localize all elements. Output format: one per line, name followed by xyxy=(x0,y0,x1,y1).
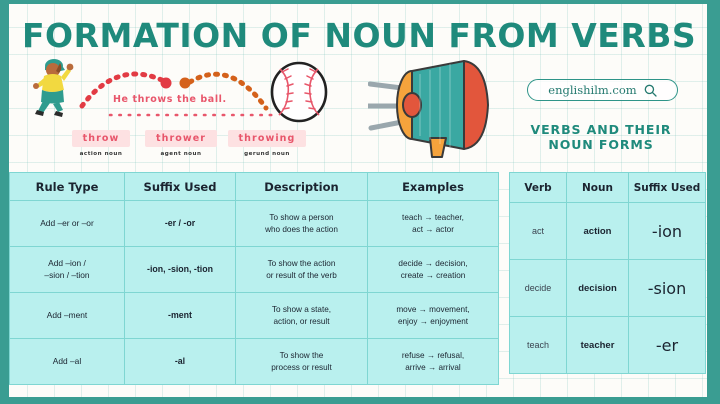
cell-description-2-line2: or result of the verb xyxy=(266,271,337,280)
table-row: teach teacher -er xyxy=(510,317,706,374)
table-row: act action -ion xyxy=(510,203,706,260)
subheading: VERBS AND THEIR NOUN FORMS xyxy=(506,122,696,152)
column-header-noun: Noun xyxy=(567,173,629,203)
cell-description-1-line1: To show a person xyxy=(269,213,333,222)
cell-description-3-line1: To show a state, xyxy=(272,305,331,314)
word-chip-thrower: thrower xyxy=(145,130,217,147)
cell-description-3-line2: action, or result xyxy=(274,317,330,326)
cell-rule-type-4: Add –al xyxy=(10,339,125,385)
cell-description-4: To show the process or result xyxy=(236,339,368,385)
example-sentence: He throws the ball. xyxy=(113,94,227,105)
subheading-line-1: VERBS AND THEIR xyxy=(506,122,696,137)
cell-suffix-3: -er xyxy=(629,317,706,374)
table-row: Add –ion / –sion / –tion -ion, -sion, -t… xyxy=(10,247,499,293)
column-header-suffix-used: Suffix Used xyxy=(629,173,706,203)
infographic-poster: FORMATION OF NOUN FROM VERBS He throws t… xyxy=(0,0,720,404)
cell-examples-4-line1: refuse → refusal, xyxy=(402,351,464,360)
cell-suffix-1: -er / -or xyxy=(125,201,236,247)
cell-description-3: To show a state, action, or result xyxy=(236,293,368,339)
dotted-underline-icon xyxy=(108,113,274,117)
search-icon[interactable] xyxy=(644,84,657,97)
rules-table: Rule Type Suffix Used Description Exampl… xyxy=(9,172,499,385)
examples-table: Verb Noun Suffix Used act action -ion de… xyxy=(509,172,706,374)
frame-band-right xyxy=(707,0,720,404)
cell-rule-type-3: Add –ment xyxy=(10,293,125,339)
subheading-line-2: NOUN FORMS xyxy=(506,137,696,152)
table-header-row: Verb Noun Suffix Used xyxy=(510,173,706,203)
cell-suffix-2: -sion xyxy=(629,260,706,317)
column-header-suffix-used: Suffix Used xyxy=(125,173,236,201)
cell-description-4-line2: process or result xyxy=(271,363,332,372)
cell-noun-3: teacher xyxy=(567,317,629,374)
table-row: Add –ment -ment To show a state, action,… xyxy=(10,293,499,339)
throw-arc-2-icon xyxy=(178,62,276,114)
cell-description-1-line2: who does the action xyxy=(265,225,338,234)
cell-examples-1-line1: teach → teacher, xyxy=(402,213,464,222)
cell-examples-2-line2: create → creation xyxy=(401,271,466,280)
boy-throwing-icon xyxy=(28,57,74,119)
cell-suffix-2: -ion, -sion, -tion xyxy=(125,247,236,293)
frame-band-top xyxy=(0,0,720,4)
cell-suffix-3: -ment xyxy=(125,293,236,339)
cell-examples-3-line1: move → movement, xyxy=(396,305,469,314)
brand-badge[interactable]: englishilm.com xyxy=(527,79,678,101)
column-header-rule-type: Rule Type xyxy=(10,173,125,201)
table-header-row: Rule Type Suffix Used Description Exampl… xyxy=(10,173,499,201)
cell-examples-1: teach → teacher, act → actor xyxy=(368,201,499,247)
cell-description-2-line1: To show the action xyxy=(268,259,336,268)
word-chip-label-gerund: gerund noun xyxy=(228,151,306,157)
column-header-verb: Verb xyxy=(510,173,567,203)
cell-examples-1-line2: act → actor xyxy=(412,225,454,234)
cell-examples-2-line1: decide → decision, xyxy=(398,259,467,268)
cell-noun-2: decision xyxy=(567,260,629,317)
cell-rule-type-2: Add –ion / –sion / –tion xyxy=(10,247,125,293)
cell-verb-3: teach xyxy=(510,317,567,374)
cell-examples-2: decide → decision, create → creation xyxy=(368,247,499,293)
cell-suffix-1: -ion xyxy=(629,203,706,260)
word-chip-throw: throw xyxy=(72,130,130,147)
table-row: decide decision -sion xyxy=(510,260,706,317)
brand-name: englishilm.com xyxy=(548,83,636,97)
cell-examples-3: move → movement, enjoy → enjoyment xyxy=(368,293,499,339)
column-header-examples: Examples xyxy=(368,173,499,201)
word-chip-label-agent: agent noun xyxy=(145,151,217,157)
cell-examples-3-line2: enjoy → enjoyment xyxy=(398,317,468,326)
frame-band-left xyxy=(0,0,9,404)
frame-band-bottom xyxy=(0,397,720,404)
cell-description-1: To show a person who does the action xyxy=(236,201,368,247)
cell-suffix-4: -al xyxy=(125,339,236,385)
baseball-icon xyxy=(268,60,330,124)
cell-rule-type-2-line1: Add –ion / xyxy=(48,258,86,268)
cell-examples-4: refuse → refusal, arrive → arrival xyxy=(368,339,499,385)
cell-examples-4-line2: arrive → arrival xyxy=(405,363,461,372)
cell-description-2: To show the action or result of the verb xyxy=(236,247,368,293)
word-chip-throwing: throwing xyxy=(228,130,306,147)
word-chip-label-action: action noun xyxy=(72,151,130,157)
column-header-description: Description xyxy=(236,173,368,201)
cell-noun-1: action xyxy=(567,203,629,260)
cell-verb-1: act xyxy=(510,203,567,260)
table-row: Add –er or –or -er / -or To show a perso… xyxy=(10,201,499,247)
cell-rule-type-1: Add –er or –or xyxy=(10,201,125,247)
page-title: FORMATION OF NOUN FROM VERBS xyxy=(22,16,698,55)
cell-verb-2: decide xyxy=(510,260,567,317)
megaphone-icon xyxy=(368,58,498,158)
cell-description-4-line1: To show the xyxy=(280,351,324,360)
table-row: Add –al -al To show the process or resul… xyxy=(10,339,499,385)
cell-rule-type-2-line2: –sion / –tion xyxy=(44,270,89,280)
